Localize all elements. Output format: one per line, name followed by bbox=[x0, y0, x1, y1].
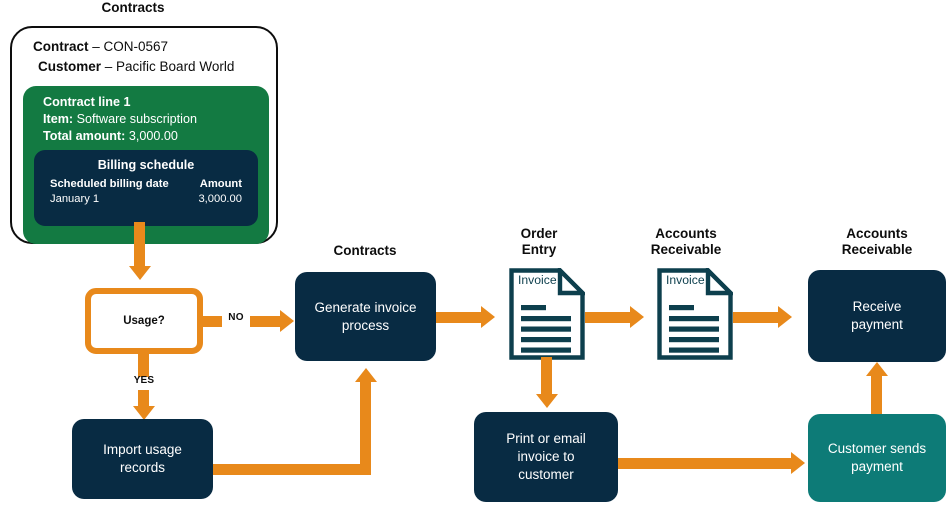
connector-ar-invoice-to-receive-payment bbox=[733, 312, 778, 323]
connector-oe-invoice-to-ar-invoice bbox=[585, 312, 630, 323]
branch-label-no: NO bbox=[222, 312, 250, 323]
process-generate-invoice[interactable]: Generate invoice process bbox=[295, 272, 436, 361]
connector-invoice-to-print-email bbox=[541, 357, 552, 396]
customer-label: Customer bbox=[38, 59, 101, 74]
connector-usage-no bbox=[250, 316, 280, 327]
branch-label-yes: YES bbox=[124, 375, 164, 386]
customer-dash: – bbox=[101, 59, 116, 74]
cell-amount: 3,000.00 bbox=[190, 192, 242, 207]
decision-usage-label: Usage? bbox=[123, 315, 165, 327]
connector-usage-no-stub bbox=[203, 316, 222, 327]
table-row: January 1 3,000.00 bbox=[50, 192, 242, 207]
item-value: Software subscription bbox=[73, 112, 197, 126]
billing-schedule-table-wrap: Scheduled billing date Amount January 1 … bbox=[50, 177, 242, 207]
arrowhead-import-to-generate bbox=[355, 368, 377, 382]
total-value: 3,000.00 bbox=[125, 129, 178, 143]
cell-billing-date: January 1 bbox=[50, 192, 190, 207]
invoice-icon-label: Invoice bbox=[518, 273, 557, 287]
item-label: Item: bbox=[43, 112, 73, 126]
process-generate-invoice-label: Generate invoice process bbox=[314, 299, 416, 335]
total-label: Total amount: bbox=[43, 129, 125, 143]
arrowhead-oe-invoice-to-ar-invoice bbox=[630, 306, 644, 328]
connector-import-to-generate-horizontal bbox=[213, 464, 371, 475]
arrowhead-contract-to-usage bbox=[129, 266, 151, 280]
billing-schedule-panel: Billing schedule Scheduled billing date … bbox=[34, 150, 258, 226]
process-import-usage-records[interactable]: Import usage records bbox=[72, 419, 213, 499]
billing-schedule-title: Billing schedule bbox=[34, 158, 258, 172]
process-receive-payment-label: Receive payment bbox=[851, 298, 903, 334]
process-print-or-email-invoice[interactable]: Print or email invoice to customer bbox=[474, 412, 618, 502]
invoice-document-icon-accounts-receivable[interactable]: Invoice bbox=[657, 268, 733, 360]
invoice-document-icon-order-entry[interactable]: Invoice bbox=[509, 268, 585, 360]
connector-customer-sends-to-receive bbox=[871, 376, 882, 414]
diagram-canvas: Contracts Contract – CON-0567 Customer –… bbox=[0, 0, 949, 505]
caption-order-entry: Order Entry bbox=[498, 226, 580, 257]
process-print-or-email-invoice-label: Print or email invoice to customer bbox=[506, 430, 586, 484]
contract-line-panel: Contract line 1 Item: Software subscript… bbox=[23, 86, 269, 244]
process-customer-sends-payment[interactable]: Customer sends payment bbox=[808, 414, 946, 502]
contract-id-row: Contract – CON-0567 bbox=[33, 38, 168, 55]
connector-import-to-generate-vertical bbox=[360, 382, 371, 470]
contract-line-item-row: Item: Software subscription bbox=[43, 111, 268, 128]
arrowhead-generate-to-invoice bbox=[481, 306, 495, 328]
customer-row: Customer – Pacific Board World bbox=[38, 58, 234, 75]
contract-line-heading: Contract line 1 bbox=[43, 94, 263, 111]
process-import-usage-records-label: Import usage records bbox=[103, 441, 182, 477]
contract-dash: – bbox=[89, 39, 104, 54]
connector-print-to-customer-sends bbox=[618, 458, 791, 469]
process-receive-payment[interactable]: Receive payment bbox=[808, 270, 946, 362]
table-header-row: Scheduled billing date Amount bbox=[50, 177, 242, 192]
arrowhead-usage-no bbox=[280, 310, 294, 332]
arrowhead-usage-yes bbox=[133, 406, 155, 420]
caption-contracts-process: Contracts bbox=[309, 243, 421, 259]
arrowhead-customer-sends-to-receive bbox=[866, 362, 888, 376]
contract-value: CON-0567 bbox=[104, 39, 169, 54]
contract-line-heading-text: Contract line 1 bbox=[43, 95, 130, 109]
invoice-icon-label: Invoice bbox=[666, 273, 705, 287]
arrowhead-invoice-to-print-email bbox=[536, 394, 558, 408]
col-amount: Amount bbox=[190, 177, 242, 192]
contract-label: Contract bbox=[33, 39, 89, 54]
customer-value: Pacific Board World bbox=[116, 59, 234, 74]
connector-usage-yes-stub bbox=[138, 354, 149, 377]
contract-card: Contract – CON-0567 Customer – Pacific B… bbox=[10, 26, 278, 244]
arrowhead-print-to-customer-sends bbox=[791, 452, 805, 474]
caption-contracts-group: Contracts bbox=[77, 0, 189, 16]
contract-line-total-row: Total amount: 3,000.00 bbox=[43, 128, 268, 145]
caption-accounts-receivable-invoice: Accounts Receivable bbox=[641, 226, 731, 257]
caption-accounts-receivable-payment: Accounts Receivable bbox=[831, 226, 923, 257]
arrowhead-ar-invoice-to-receive-payment bbox=[778, 306, 792, 328]
process-customer-sends-payment-label: Customer sends payment bbox=[828, 440, 926, 476]
connector-generate-to-invoice bbox=[436, 312, 481, 323]
decision-usage[interactable]: Usage? bbox=[85, 288, 203, 354]
col-scheduled-billing-date: Scheduled billing date bbox=[50, 177, 190, 192]
billing-schedule-table: Scheduled billing date Amount January 1 … bbox=[50, 177, 242, 207]
connector-contract-to-usage bbox=[134, 222, 145, 268]
